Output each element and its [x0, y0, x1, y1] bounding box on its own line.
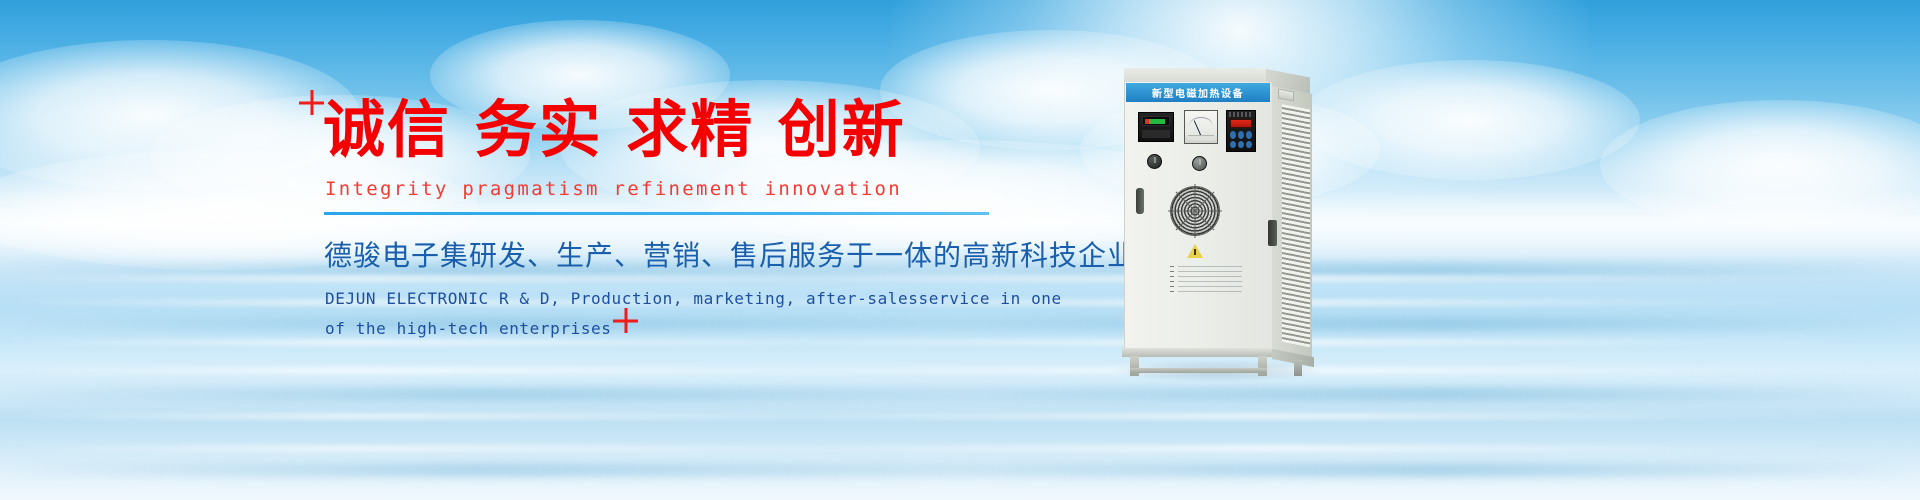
fan-grille-icon: [1170, 186, 1220, 236]
control-knob: [1192, 156, 1207, 171]
cabinet-leg: [1130, 356, 1139, 376]
warning-triangle-icon: [1187, 244, 1203, 258]
cloud-shape: [1600, 100, 1920, 230]
digital-controller-module: [1138, 112, 1174, 142]
cabinet-leg: [1258, 356, 1267, 376]
control-knob: [1147, 154, 1162, 169]
cabinet-latch: [1268, 220, 1277, 246]
subtitle-english-line-1: DEJUN ELECTRONIC R & D, Production, mark…: [325, 284, 1040, 314]
cabinet-crossbar: [1130, 368, 1267, 373]
water-band: [0, 463, 1920, 477]
keypad-keys: [1230, 131, 1252, 148]
cloud-shape: [0, 40, 360, 190]
controller-display: [1142, 116, 1170, 126]
banner-text-block: 诚信 务实 求精 创新 Integrity pragmatism refinem…: [320, 96, 1040, 343]
headline-chinese: 诚信 务实 求精 创新: [323, 96, 1040, 164]
ventilation-louvers: [1282, 104, 1310, 347]
keypad-title-strip: [1229, 112, 1253, 117]
product-label-banner: 新型电磁加热设备: [1126, 83, 1270, 102]
keypad-led-display: [1230, 119, 1252, 128]
spec-text-block: [1178, 266, 1242, 294]
subtitle-chinese: 德骏电子集研发、生产、营销、售后服务于一体的高新科技企业: [324, 234, 1040, 274]
analog-meter-module: [1184, 110, 1218, 144]
water-streak: [0, 445, 1920, 452]
spec-bullet-marks: [1170, 266, 1174, 294]
water-streak: [0, 413, 1920, 420]
cabinet-base: [1122, 348, 1274, 357]
divider-line: [324, 212, 989, 215]
cabinet-side-panel: [1272, 86, 1312, 360]
product-label-text: 新型电磁加热设备: [1152, 85, 1244, 100]
water-band: [0, 387, 1920, 401]
subtitle-english-line-2: of the high-tech enterprises: [325, 314, 1040, 344]
controller-buttons: [1142, 130, 1170, 138]
subtitle-english: DEJUN ELECTRONIC R & D, Production, mark…: [325, 284, 1040, 343]
cloud-shape: [1300, 60, 1640, 180]
headline-english: Integrity pragmatism refinement innovati…: [325, 178, 1040, 200]
led-keypad-module: [1226, 110, 1256, 152]
cabinet-leg: [1294, 360, 1302, 376]
meter-base: [1188, 135, 1214, 140]
product-image-heating-cabinet: 新型电磁加热设备: [1118, 68, 1318, 378]
meter-scale: [1189, 117, 1213, 126]
hero-banner: 诚信 务实 求精 创新 Integrity pragmatism refinem…: [0, 0, 1920, 500]
door-handle: [1136, 188, 1144, 214]
water-streak: [0, 367, 1920, 374]
